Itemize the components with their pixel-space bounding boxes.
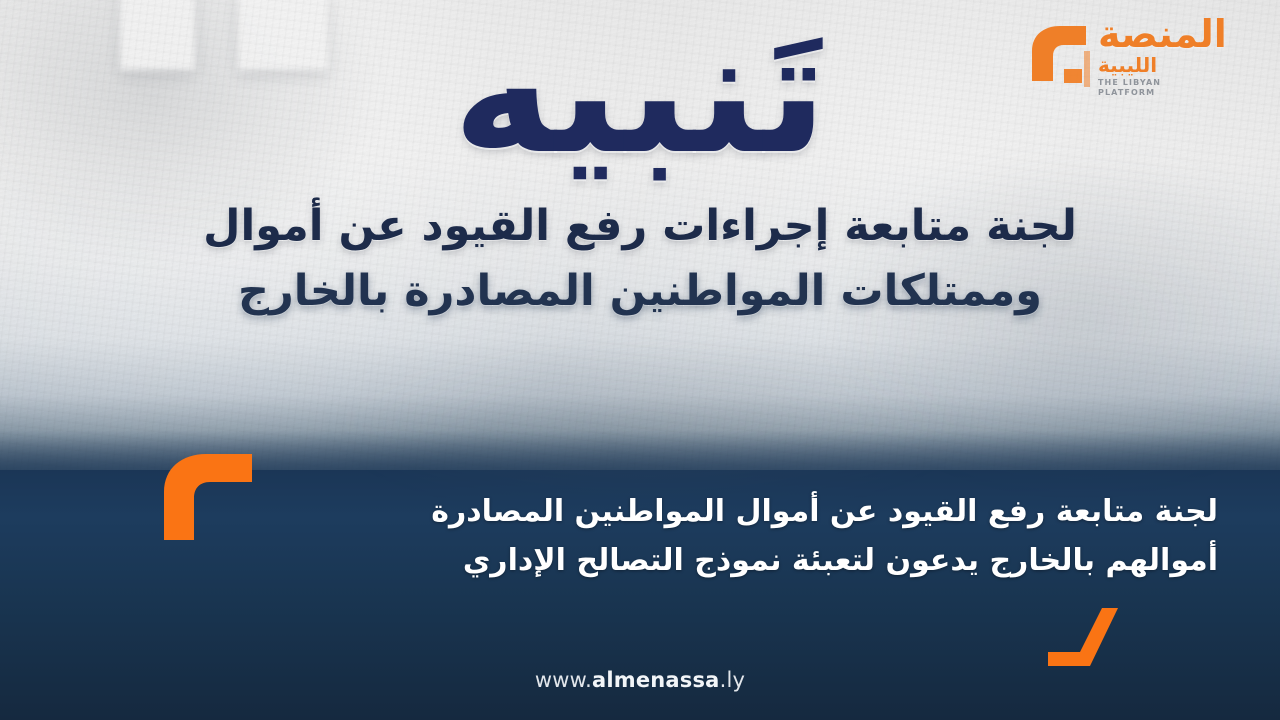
website-url[interactable]: www.almenassa.ly bbox=[0, 668, 1280, 692]
logo-english-line-1: THE LIBYAN bbox=[1098, 78, 1161, 87]
logo-english-line-2: PLATFORM bbox=[1098, 88, 1155, 97]
website-tld: .ly bbox=[720, 668, 746, 692]
quote-close-bracket-icon bbox=[1046, 608, 1122, 668]
caption-line-1: لجنة متابعة رفع القيود عن أموال المواطني… bbox=[358, 488, 1218, 537]
logo-arabic-primary: المنصة bbox=[1098, 16, 1227, 52]
news-graphic-poster: تَنبيه لجنة متابعة إجراءات رفع القيود عن… bbox=[0, 0, 1280, 720]
quote-open-bracket-icon bbox=[160, 452, 256, 540]
website-prefix: www. bbox=[535, 668, 592, 692]
menassa-logo-mark-icon bbox=[1024, 21, 1094, 93]
subheading-group: لجنة متابعة إجراءات رفع القيود عن أموال … bbox=[203, 194, 1077, 325]
logo-arabic-secondary: الليبية bbox=[1098, 54, 1157, 76]
subheading-line-1: لجنة متابعة إجراءات رفع القيود عن أموال bbox=[203, 201, 1077, 251]
caption-block: لجنة متابعة رفع القيود عن أموال المواطني… bbox=[358, 488, 1218, 585]
website-brand: almenassa bbox=[592, 668, 720, 692]
subheading-line-2: وممتلكات المواطنين المصادرة بالخارج bbox=[203, 259, 1077, 324]
logo-text-group: المنصة الليبية THE LIBYAN PLATFORM bbox=[1098, 16, 1227, 97]
caption-line-2: أموالهم بالخارج يدعون لتعبئة نموذج التصا… bbox=[358, 537, 1218, 586]
site-logo[interactable]: المنصة الليبية THE LIBYAN PLATFORM bbox=[1024, 14, 1244, 100]
page-title: تَنبيه bbox=[452, 8, 827, 178]
logo-english-text: THE LIBYAN PLATFORM bbox=[1098, 78, 1161, 98]
